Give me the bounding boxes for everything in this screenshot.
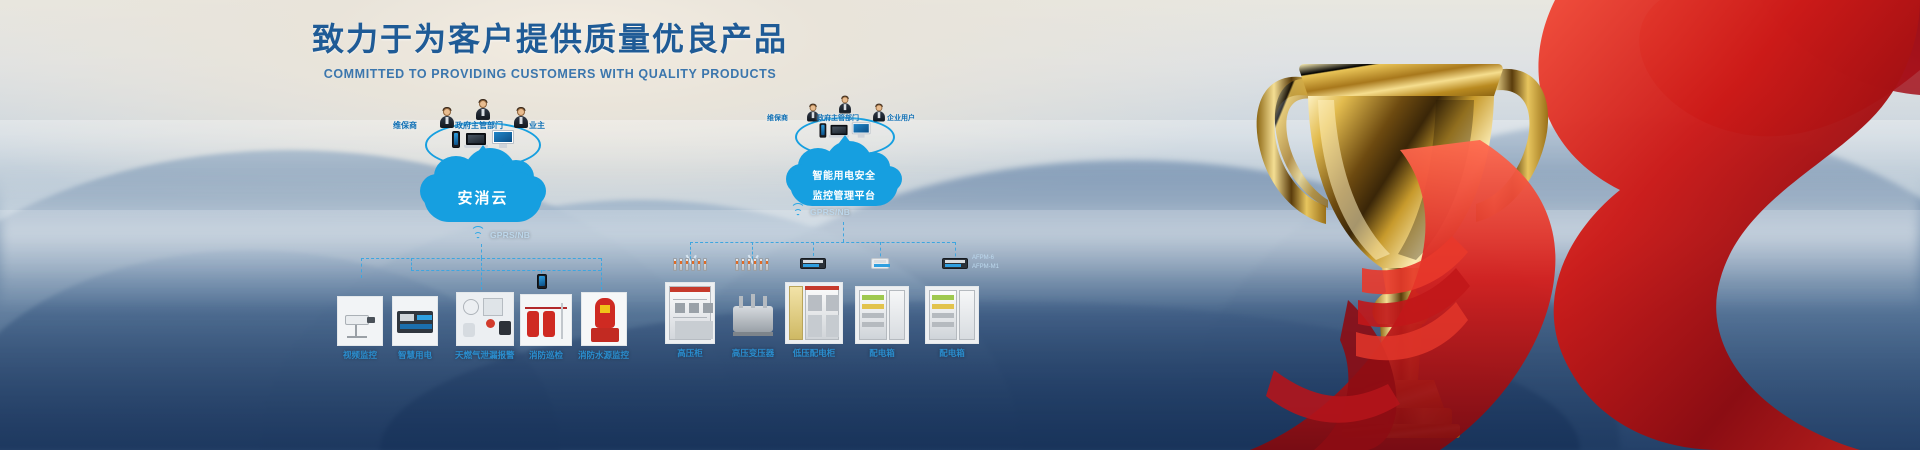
bus-line [481, 258, 482, 290]
device-label: 低压配电柜 [785, 347, 843, 359]
person-icon [872, 105, 886, 122]
person-icon [513, 108, 529, 128]
cloud-label-line: 监控管理平台 [813, 187, 876, 202]
controller-icon [392, 296, 438, 346]
left-gprs-link: GPRS/NB [470, 228, 530, 241]
device-card: 配电箱 [925, 286, 979, 359]
device-label: 视频监控 [337, 349, 383, 361]
mobile-terminal-icon [537, 274, 547, 289]
bus-line [813, 242, 814, 256]
device-label: 高压柜 [665, 347, 715, 359]
energy-meter-icon [942, 258, 968, 269]
link-protocol-label: GPRS/NB [490, 230, 530, 240]
device-label: 配电箱 [925, 347, 979, 359]
device-card: 视频监控 [337, 296, 383, 361]
module-tag: AFPM-6 [972, 255, 994, 261]
bus-line [481, 244, 482, 258]
device-card: 消防巡检 [520, 294, 572, 361]
distribution-box-icon [925, 286, 979, 344]
energy-meter-icon [871, 258, 889, 269]
bus-line [690, 242, 955, 243]
user-role-label: 维保商 [393, 120, 417, 131]
promo-banner: 致力于为客户提供质量优良产品 COMMITTED TO PROVIDING CU… [0, 0, 1920, 450]
trophy-and-ribbon-graphic [1100, 0, 1920, 450]
right-cloud-platform: 智能用电安全 监控管理平台 [790, 162, 898, 206]
bus-line [411, 258, 412, 270]
device-label: 消防水源监控 [578, 349, 629, 361]
cloud-label-line: 智能用电安全 [813, 167, 876, 182]
person-icon [439, 108, 455, 128]
device-card: 智慧用电 [392, 296, 438, 361]
user-role-label: 业主 [529, 120, 545, 131]
fuse-rack-icon [673, 258, 707, 271]
monitor-icon [852, 122, 871, 137]
person-icon [475, 100, 491, 120]
banner-heading-block: 致力于为客户提供质量优良产品 COMMITTED TO PROVIDING CU… [0, 14, 1100, 81]
bus-line [411, 270, 601, 271]
user-role-label: 维保商 [767, 113, 788, 123]
phone-icon [452, 131, 460, 148]
hv-switchgear-icon [665, 282, 715, 344]
device-card: 配电箱 [855, 286, 909, 359]
cctv-camera-icon [337, 296, 383, 346]
bus-line [843, 222, 844, 242]
device-label: 高压变压器 [725, 347, 781, 359]
module-tag: AFPM-M1 [972, 264, 999, 270]
device-card: 消防水源监控 [578, 292, 629, 361]
phone-icon [820, 123, 827, 137]
wifi-signal-icon [470, 228, 486, 241]
link-protocol-label: GPRS/NB [810, 207, 850, 217]
bus-line [601, 258, 602, 290]
user-role-label: 企业用户 [887, 113, 915, 123]
energy-meter-icon [800, 258, 826, 269]
bus-line [361, 258, 362, 278]
device-label: 天燃气泄漏报警 [455, 349, 515, 361]
trophy-ribbon-svg [1100, 0, 1920, 450]
distribution-box-icon [855, 286, 909, 344]
device-card: 低压配电柜 [785, 282, 843, 359]
page-title: 致力于为客户提供质量优良产品 [0, 14, 1100, 60]
cloud-label-line: 安消云 [457, 187, 508, 208]
device-card: 高压柜 [665, 282, 715, 359]
left-cloud-platform: 安消云 [424, 172, 542, 222]
fire-hydrant-pump-icon [581, 292, 627, 346]
device-card: 高压变压器 [725, 290, 781, 359]
device-label: 消防巡检 [520, 349, 572, 361]
person-icon [838, 97, 852, 114]
right-gprs-link: GPRS/NB [790, 205, 850, 218]
lv-distribution-cabinet-icon [785, 282, 843, 344]
hv-transformer-icon [725, 290, 781, 344]
device-label: 配电箱 [855, 347, 909, 359]
device-card: 天燃气泄漏报警 [455, 292, 515, 361]
monitor-icon [492, 130, 514, 148]
wifi-signal-icon [790, 205, 806, 218]
page-subtitle: COMMITTED TO PROVIDING CUSTOMERS WITH QU… [0, 67, 1100, 81]
fuse-rack-icon [735, 258, 769, 271]
gas-alarm-panel-icon [456, 292, 514, 346]
fire-pump-icon [520, 294, 572, 346]
device-label: 智慧用电 [392, 349, 438, 361]
